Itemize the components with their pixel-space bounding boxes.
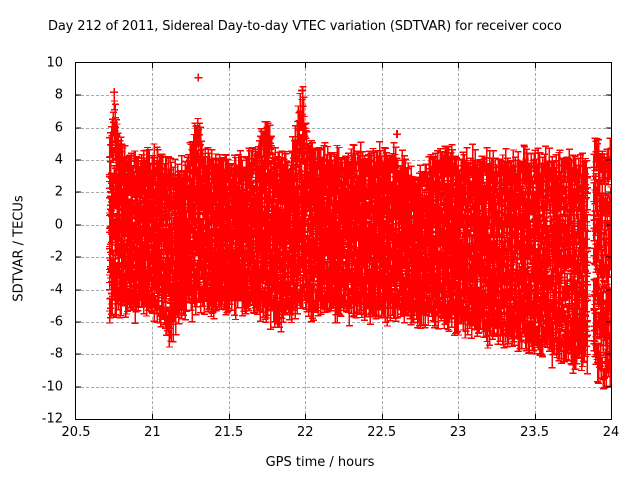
y-tick-label: 8 xyxy=(0,88,69,103)
y-tick-label: -6 xyxy=(0,314,69,329)
y-tick-mark xyxy=(75,386,81,387)
y-tick-mark xyxy=(75,354,81,355)
y-tick-mark-right xyxy=(606,257,612,258)
y-tick-label: 2 xyxy=(0,185,69,200)
y-tick-label: -10 xyxy=(0,379,69,394)
x-tick-label: 24 xyxy=(603,425,620,440)
x-tick-label: 21 xyxy=(144,425,161,440)
x-axis-label: GPS time / hours xyxy=(0,455,640,470)
x-tick-mark-top xyxy=(152,62,153,68)
y-tick-mark xyxy=(75,224,81,225)
x-tick-mark-top xyxy=(535,62,536,68)
y-tick-mark xyxy=(75,160,81,161)
y-tick-label: -2 xyxy=(0,250,69,265)
x-tick-mark xyxy=(382,414,383,420)
y-tick-label: 10 xyxy=(0,56,69,71)
y-axis-label: SDTVAR / TECUs xyxy=(12,169,27,329)
y-tick-mark xyxy=(75,321,81,322)
x-tick-mark-top xyxy=(458,62,459,68)
y-tick-label: -12 xyxy=(0,412,69,427)
x-tick-mark-top xyxy=(382,62,383,68)
y-tick-label: 6 xyxy=(0,120,69,135)
y-tick-mark-right xyxy=(606,386,612,387)
y-tick-mark xyxy=(75,127,81,128)
x-tick-mark xyxy=(458,414,459,420)
y-tick-mark-right xyxy=(606,127,612,128)
y-tick-mark-right xyxy=(606,192,612,193)
x-tick-mark-top xyxy=(305,62,306,68)
chart-title: Day 212 of 2011, Sidereal Day-to-day VTE… xyxy=(48,19,562,34)
x-tick-label: 22.5 xyxy=(367,425,396,440)
x-tick-mark xyxy=(152,414,153,420)
y-tick-mark-right xyxy=(606,160,612,161)
y-tick-mark xyxy=(75,257,81,258)
y-tick-label: -4 xyxy=(0,282,69,297)
y-tick-mark-right xyxy=(606,224,612,225)
x-tick-mark xyxy=(535,414,536,420)
y-tick-mark xyxy=(75,192,81,193)
x-tick-label: 22 xyxy=(297,425,314,440)
y-tick-mark-right xyxy=(606,95,612,96)
x-tick-label: 23 xyxy=(450,425,467,440)
y-tick-mark xyxy=(75,95,81,96)
y-tick-label: -8 xyxy=(0,347,69,362)
x-tick-label: 21.5 xyxy=(214,425,243,440)
y-tick-label: 0 xyxy=(0,217,69,232)
x-tick-mark-top xyxy=(229,62,230,68)
x-tick-label: 23.5 xyxy=(520,425,549,440)
plot-area xyxy=(75,62,612,420)
y-tick-mark-right xyxy=(606,354,612,355)
y-tick-label: 4 xyxy=(0,153,69,168)
data-series-errorbars xyxy=(76,63,611,419)
x-tick-mark xyxy=(229,414,230,420)
y-tick-mark-right xyxy=(606,321,612,322)
y-tick-mark-right xyxy=(606,289,612,290)
chart-root: Day 212 of 2011, Sidereal Day-to-day VTE… xyxy=(0,0,640,480)
y-tick-mark xyxy=(75,289,81,290)
x-tick-label: 20.5 xyxy=(62,425,91,440)
x-tick-mark xyxy=(305,414,306,420)
